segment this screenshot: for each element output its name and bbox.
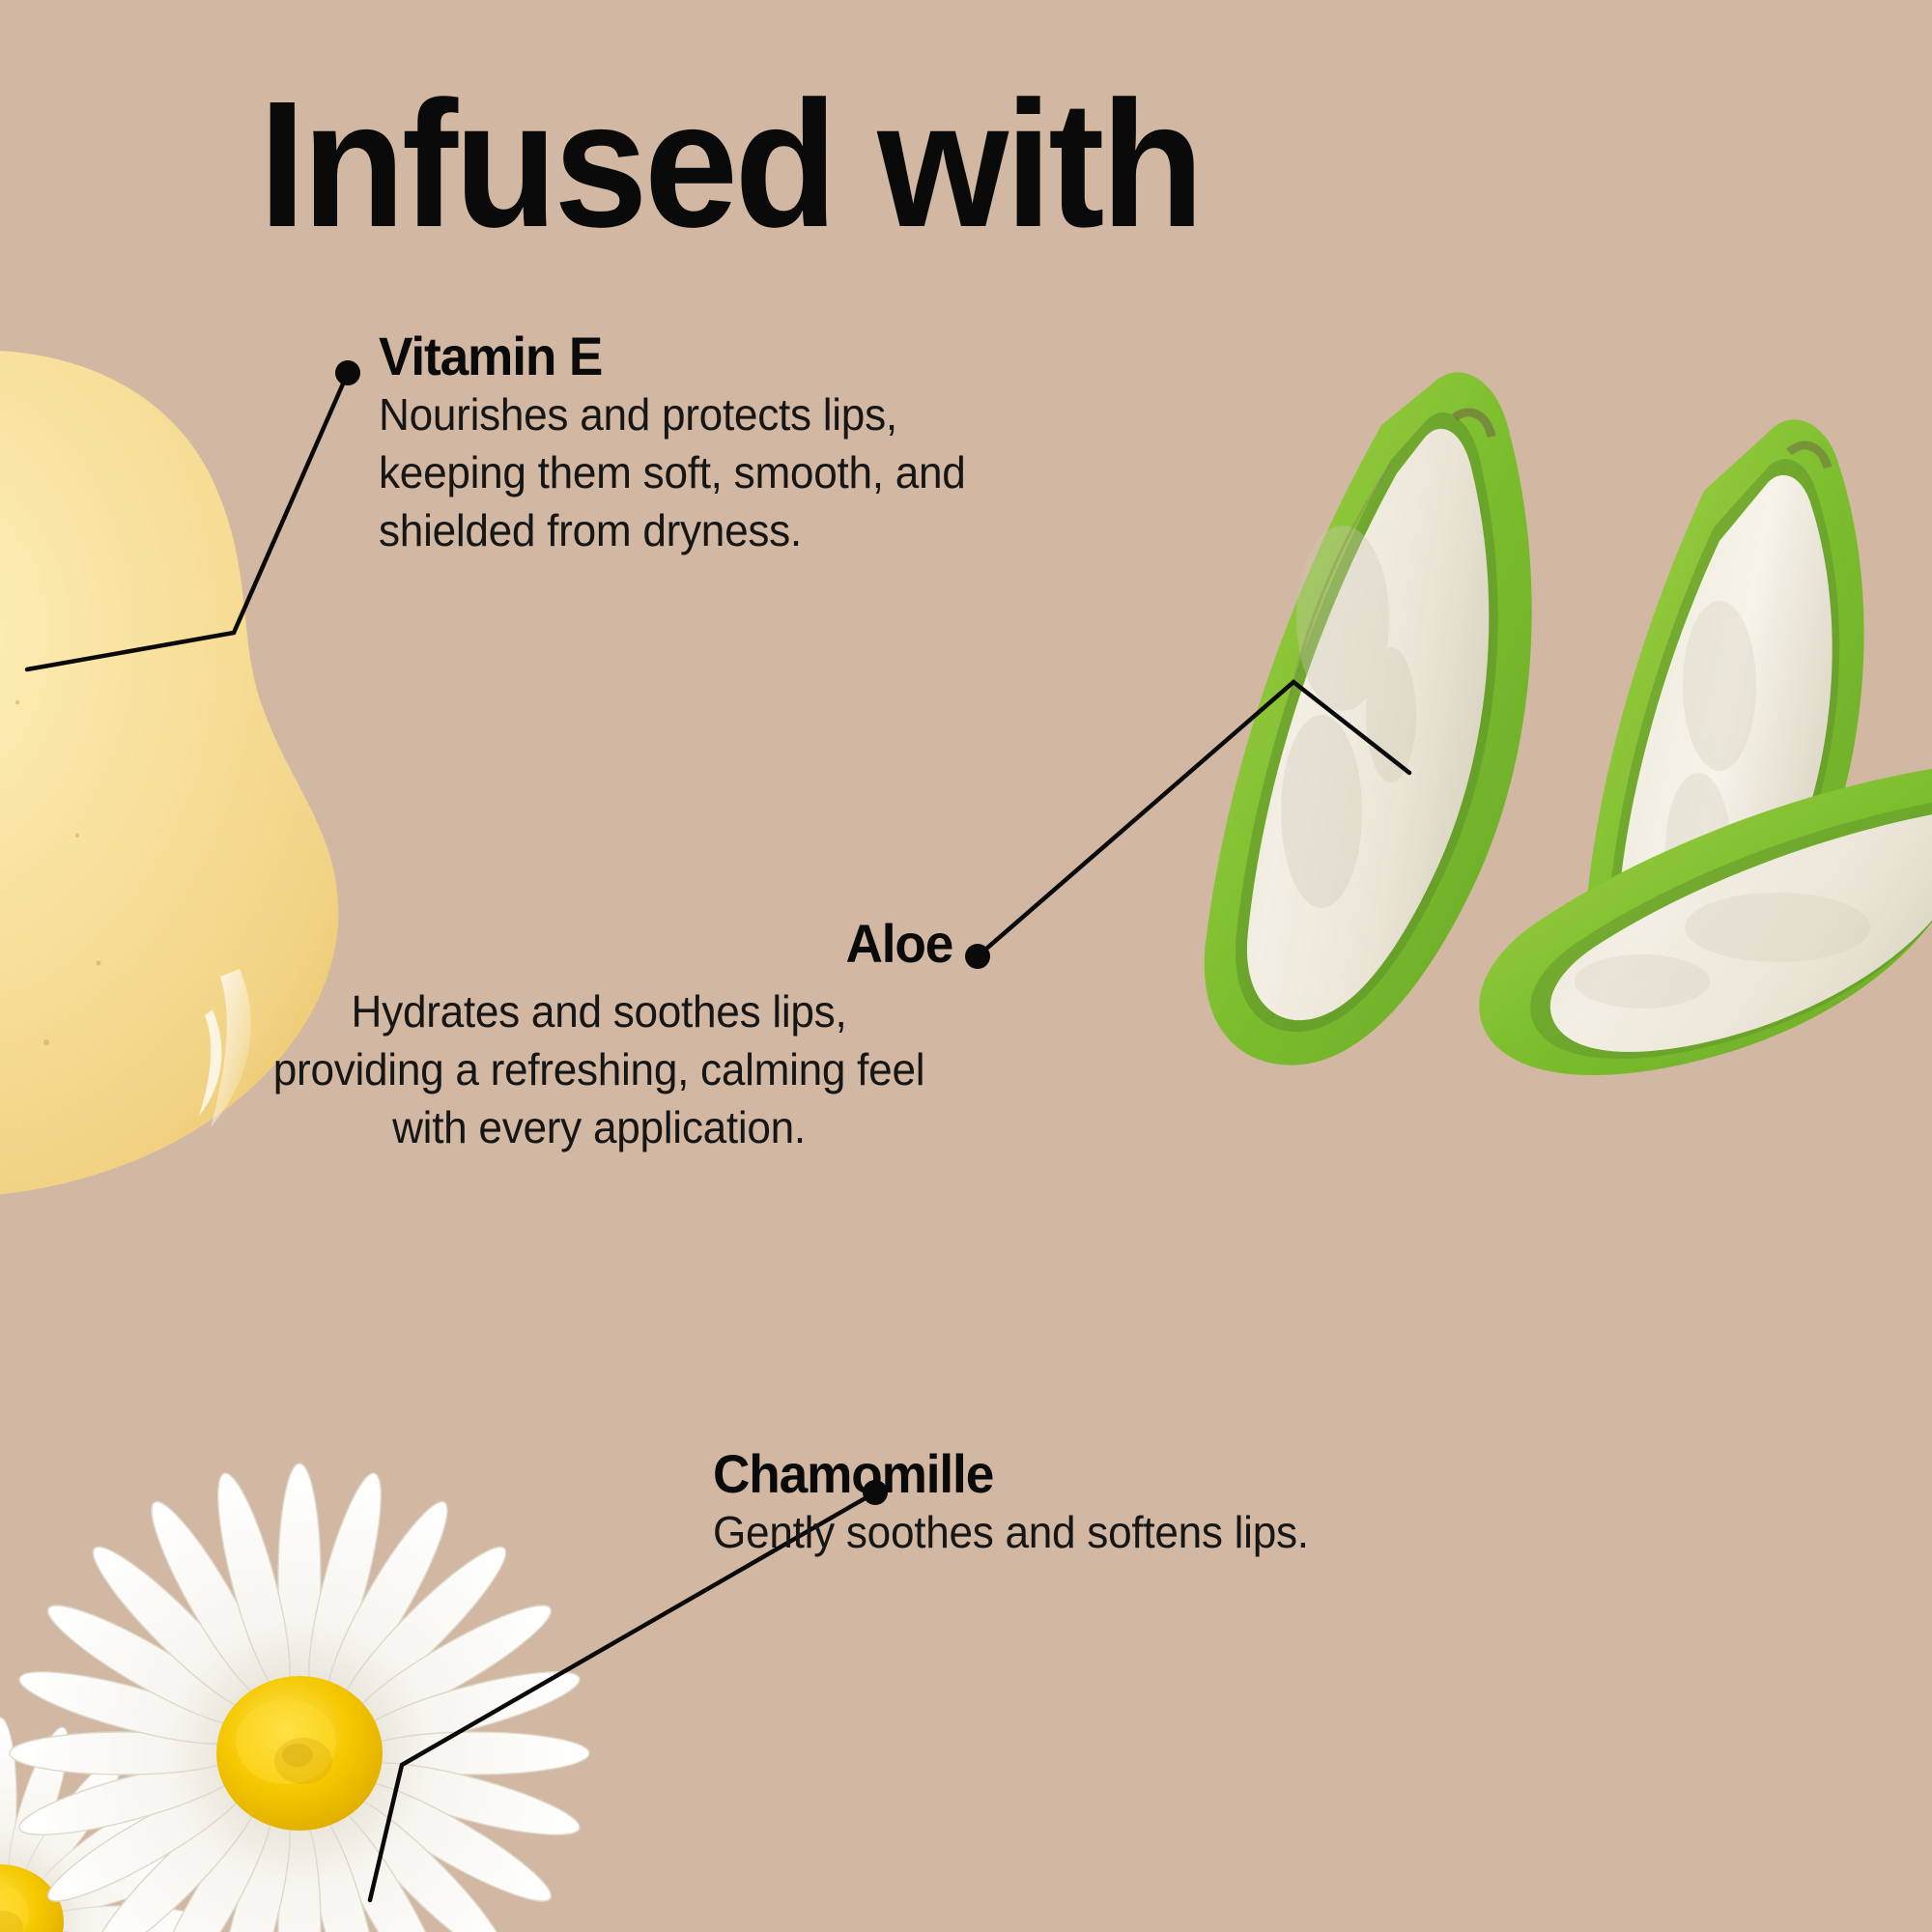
- daisy-flower-icon: [0, 1420, 705, 1932]
- ingredient-name-vitamin-e: Vitamin E: [379, 328, 1003, 384]
- page-title: Infused with: [259, 75, 1201, 255]
- connector-dot-icon: [965, 944, 990, 969]
- ingredient-description-chamomille: Gently soothes and softens lips.: [713, 1504, 1399, 1562]
- ingredient-name-aloe: Aloe: [277, 916, 956, 972]
- ingredient-description-aloe: Hydrates and soothes lips,providing a re…: [256, 983, 942, 1156]
- ingredient-callout-chamomille: Chamomille Gently soothes and softens li…: [713, 1446, 1428, 1562]
- ingredient-callout-vitamin-e: Vitamin E Nourishes and protects lips,ke…: [379, 328, 1036, 560]
- ingredient-callout-aloe: Aloe Hydrates and soothes lips,providing…: [241, 916, 956, 1157]
- connector-dot-icon: [335, 360, 360, 385]
- aloe-leader: [965, 682, 1409, 969]
- infographic-canvas: Infused with Vitamin E Nourishes and pro…: [0, 0, 1932, 1932]
- vitamin-e-leader: [27, 360, 360, 669]
- aloe-leaf-icon: [1101, 367, 1932, 1101]
- ingredient-name-chamomille: Chamomille: [713, 1446, 1392, 1502]
- ingredient-description-vitamin-e: Nourishes and protects lips,keeping them…: [379, 386, 1009, 559]
